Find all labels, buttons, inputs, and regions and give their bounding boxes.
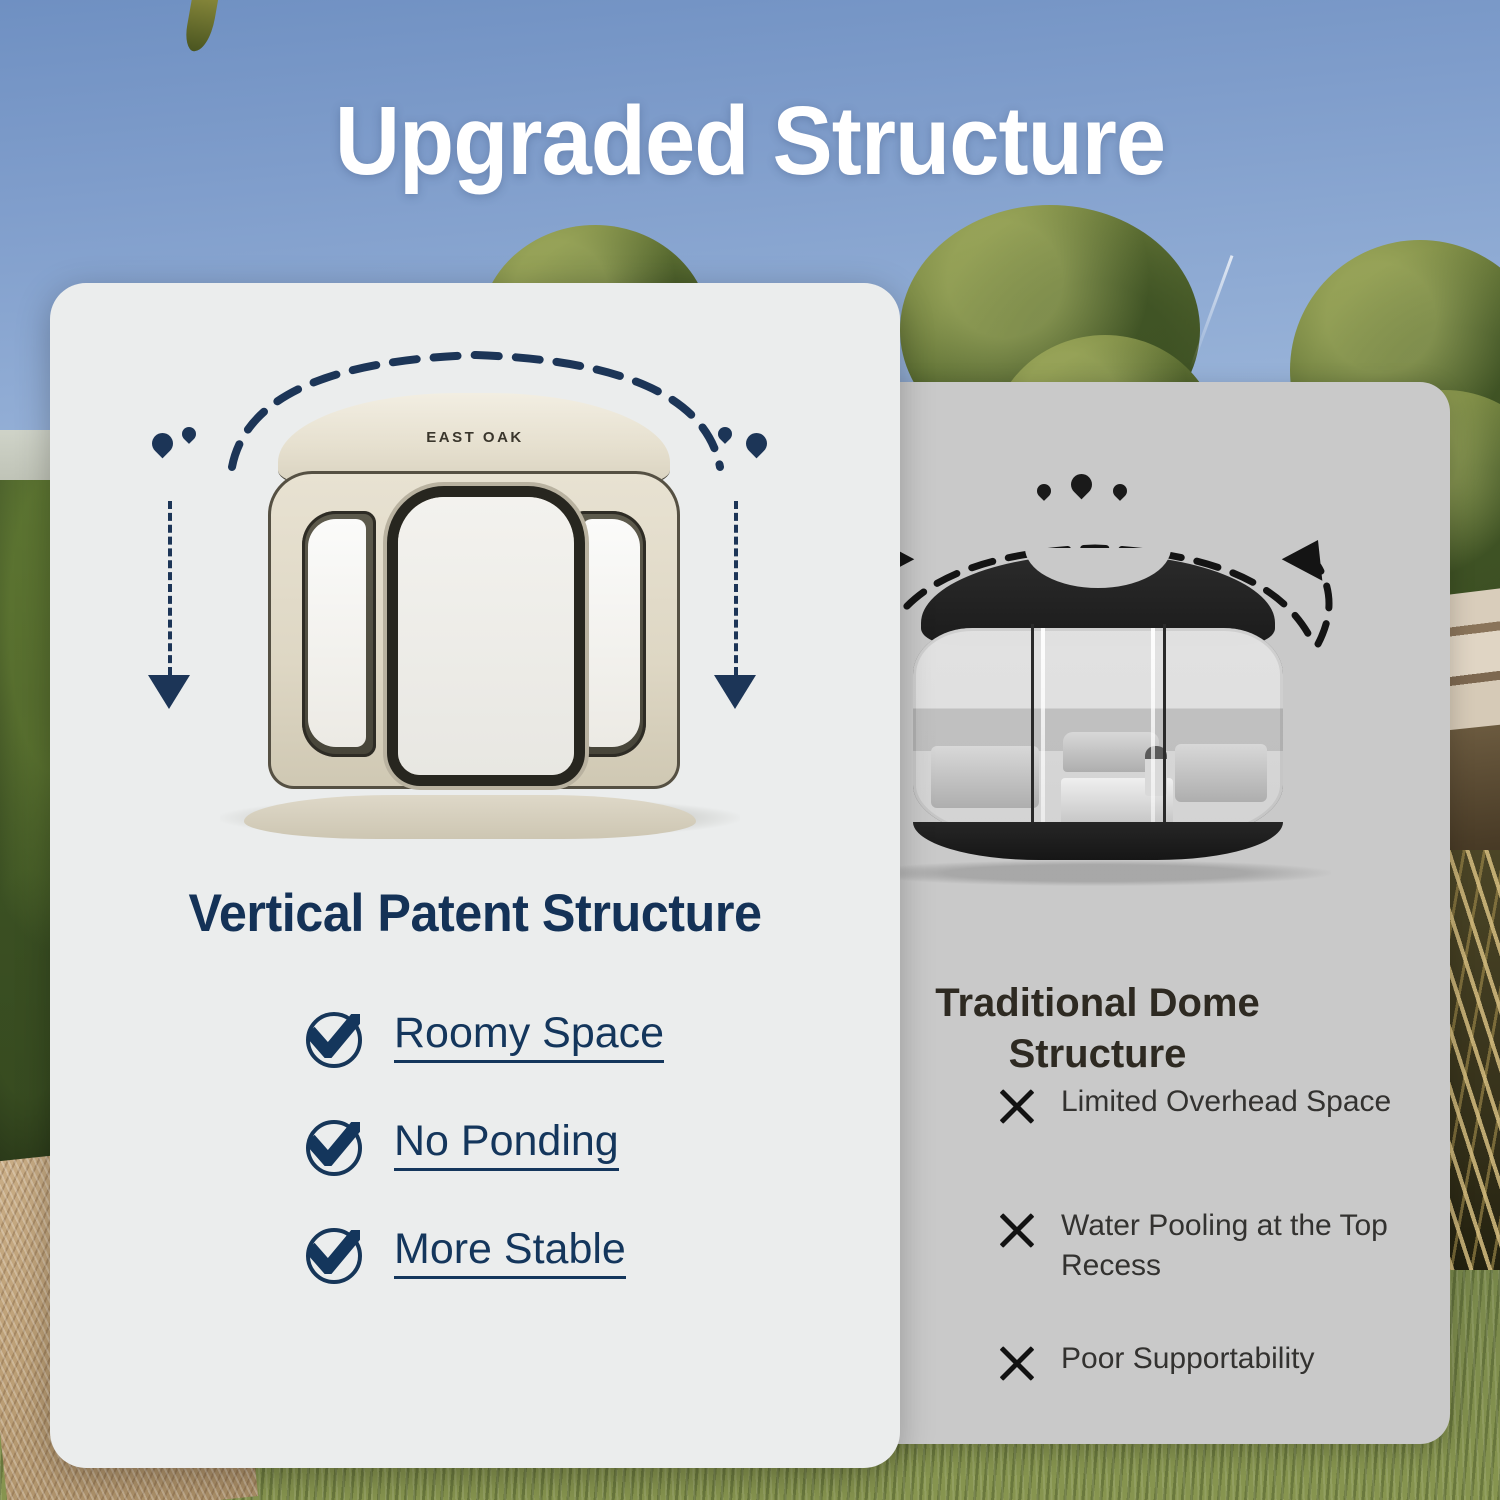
drawback-label: Poor Supportability [1061, 1339, 1314, 1379]
mesh-panel-left [302, 511, 376, 757]
runoff-arrow-icon [714, 675, 756, 709]
interior-scene [913, 628, 1283, 840]
window-left [308, 519, 366, 747]
dome-mesh-walls [913, 628, 1283, 840]
feature-label: No Ponding [394, 1119, 619, 1171]
x-icon [997, 1086, 1037, 1126]
window-right [582, 519, 640, 747]
feature-list: Roomy Space No Ponding More Stable [302, 983, 862, 1307]
feature-label: Roomy Space [394, 1011, 664, 1063]
mesh-panel-right [572, 511, 646, 757]
x-icon [997, 1210, 1037, 1250]
dome-zipper [1151, 628, 1155, 840]
dome-ground-shadow [861, 860, 1331, 886]
dome-seam [1031, 624, 1034, 844]
drawback-list: Limited Overhead Space Water Pooling at … [997, 1082, 1467, 1463]
drawback-label: Limited Overhead Space [1061, 1082, 1391, 1122]
interior-furniture [931, 746, 1039, 808]
vertical-patent-canopy-illustration: EAST OAK [110, 323, 830, 883]
runoff-guide-line [734, 501, 738, 675]
feature-label: More Stable [394, 1227, 626, 1279]
drawback-label: Water Pooling at the Top Recess [1061, 1206, 1467, 1285]
check-icon [302, 1006, 364, 1068]
dome-seam [1163, 624, 1166, 844]
canopy-body [268, 471, 680, 789]
page-title: Upgraded Structure [53, 92, 1448, 189]
interior-furniture [1175, 744, 1267, 802]
x-icon [997, 1343, 1037, 1383]
check-icon [302, 1222, 364, 1284]
cube-canopy: EAST OAK [260, 393, 690, 813]
canopy-door [398, 497, 574, 775]
list-item: Water Pooling at the Top Recess [997, 1206, 1467, 1285]
right-heading-line-1: Traditional Dome [935, 981, 1260, 1025]
check-icon [302, 1114, 364, 1176]
dome-base-skirt [913, 822, 1283, 860]
runoff-guide-line [168, 501, 172, 675]
runoff-arrow-icon [148, 675, 190, 709]
canopy-skirt [244, 795, 696, 839]
infographic-stage: Upgraded Structure [0, 0, 1500, 1500]
list-item: Roomy Space [302, 983, 862, 1091]
left-card-heading: Vertical Patent Structure [71, 883, 879, 944]
brand-label: EAST OAK [260, 429, 690, 446]
dome-gazebo [913, 554, 1283, 854]
dome-zipper [1041, 628, 1045, 840]
list-item: No Ponding [302, 1091, 862, 1199]
vertical-patent-card: EAST OAK Vertical Patent Structure [50, 283, 900, 1468]
list-item: More Stable [302, 1199, 862, 1307]
list-item: Limited Overhead Space [997, 1082, 1467, 1152]
list-item: Poor Supportability [997, 1339, 1467, 1409]
right-heading-line-2: Structure [1009, 1032, 1187, 1076]
